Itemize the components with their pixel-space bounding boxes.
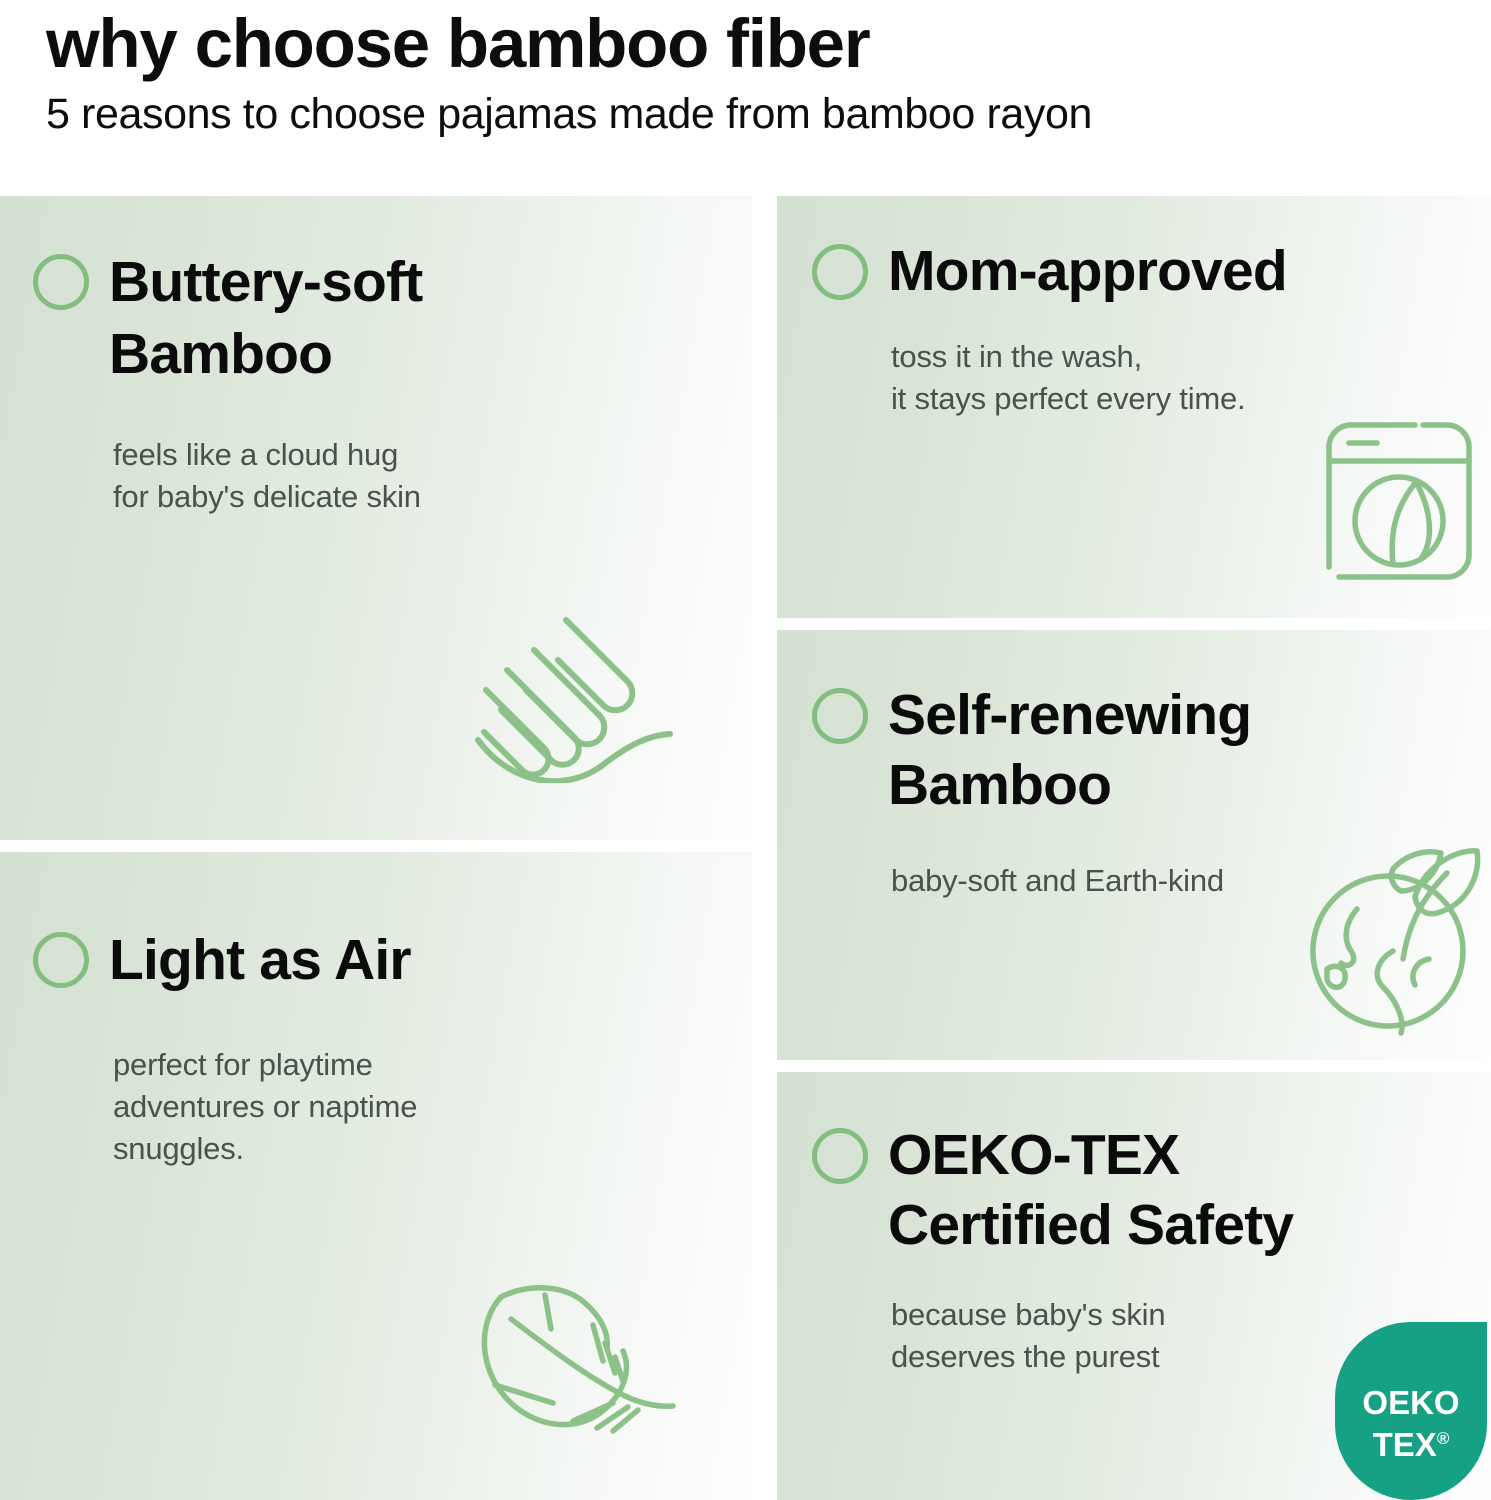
card-headline: Light as Air xyxy=(0,852,752,996)
feather-icon xyxy=(473,1273,688,1458)
card-description: perfect for playtime adventures or napti… xyxy=(113,1044,752,1170)
card-title: Light as Air xyxy=(109,924,411,996)
oeko-badge-line2: TEX® xyxy=(1373,1421,1450,1463)
card-self-renewing-bamboo: Self-renewing Bamboo baby-soft and Earth… xyxy=(777,630,1491,1060)
bullet-ring-icon xyxy=(812,244,868,300)
card-light-as-air: Light as Air perfect for playtime advent… xyxy=(0,852,752,1500)
card-mom-approved: Mom-approved toss it in the wash, it sta… xyxy=(777,196,1491,618)
page-title: why choose bamboo fiber xyxy=(46,4,1491,84)
card-title: Mom-approved xyxy=(888,236,1287,306)
card-headline: Mom-approved xyxy=(777,196,1491,306)
card-title: OEKO-TEX Certified Safety xyxy=(888,1120,1293,1260)
bullet-ring-icon xyxy=(812,688,868,744)
soft-hand-icon xyxy=(474,608,704,788)
card-headline: OEKO-TEX Certified Safety xyxy=(777,1072,1491,1260)
card-description: feels like a cloud hug for baby's delica… xyxy=(113,434,752,518)
bullet-ring-icon xyxy=(33,932,89,988)
bullet-ring-icon xyxy=(33,254,89,310)
oeko-badge-line1: OEKO xyxy=(1362,1385,1459,1421)
bullet-ring-icon xyxy=(812,1128,868,1184)
card-title: Buttery-soft Bamboo xyxy=(109,246,422,390)
oeko-tex-badge: OEKO TEX® xyxy=(1335,1322,1487,1500)
infographic-page: why choose bamboo fiber 5 reasons to cho… xyxy=(0,0,1491,1500)
card-headline: Buttery-soft Bamboo xyxy=(0,196,752,390)
registered-mark-icon: ® xyxy=(1437,1429,1450,1448)
page-subtitle: 5 reasons to choose pajamas made from ba… xyxy=(46,86,1491,142)
card-headline: Self-renewing Bamboo xyxy=(777,630,1491,820)
washing-machine-icon xyxy=(1319,417,1479,592)
card-buttery-soft-bamboo: Buttery-soft Bamboo feels like a cloud h… xyxy=(0,196,752,840)
card-oeko-tex-certified-safety: OEKO-TEX Certified Safety because baby's… xyxy=(777,1072,1491,1500)
card-description: toss it in the wash, it stays perfect ev… xyxy=(891,336,1491,420)
page-header: why choose bamboo fiber 5 reasons to cho… xyxy=(0,0,1491,184)
earth-leaf-icon xyxy=(1297,841,1487,1046)
card-title: Self-renewing Bamboo xyxy=(888,680,1251,820)
